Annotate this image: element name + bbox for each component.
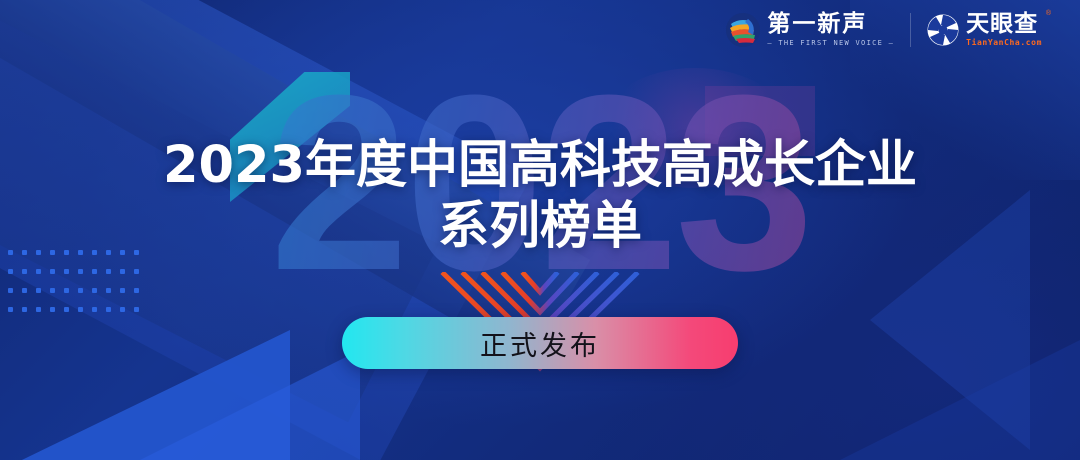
logo-first-new-voice-tagline: — THE FIRST NEW VOICE — <box>767 40 894 47</box>
logo-first-new-voice[interactable]: 第一新声 — THE FIRST NEW VOICE — <box>710 13 911 47</box>
tianyancha-eye-icon <box>927 14 959 46</box>
header-logo-row: 第一新声 — THE FIRST NEW VOICE — 天眼查 TianYan… <box>710 13 1058 47</box>
headline-line-2: 系列榜单 <box>0 196 1080 258</box>
release-cta-button[interactable]: 正式发布 <box>342 317 738 369</box>
first-new-voice-swirl-icon <box>726 13 760 47</box>
triangle-bottom-left-light <box>60 350 360 460</box>
logo-first-new-voice-name: 第一新声 <box>767 13 894 36</box>
release-cta-label: 正式发布 <box>480 324 600 363</box>
logo-tianyancha-domain: TianYanCha.com <box>966 39 1042 47</box>
logo-tianyancha-name: 天眼查 <box>966 13 1042 36</box>
promo-banner: 2023 <box>0 0 1080 460</box>
headline-block: 2023年度中国高科技高成长企业 系列榜单 <box>0 136 1080 258</box>
dot-grid-decoration <box>8 250 148 326</box>
headline-line-1: 2023年度中国高科技高成长企业 <box>0 136 1080 196</box>
logo-tianyancha[interactable]: 天眼查 TianYanCha.com ® <box>911 13 1058 47</box>
triangle-bottom-right <box>800 330 1080 460</box>
trademark-icon: ® <box>1046 10 1051 17</box>
